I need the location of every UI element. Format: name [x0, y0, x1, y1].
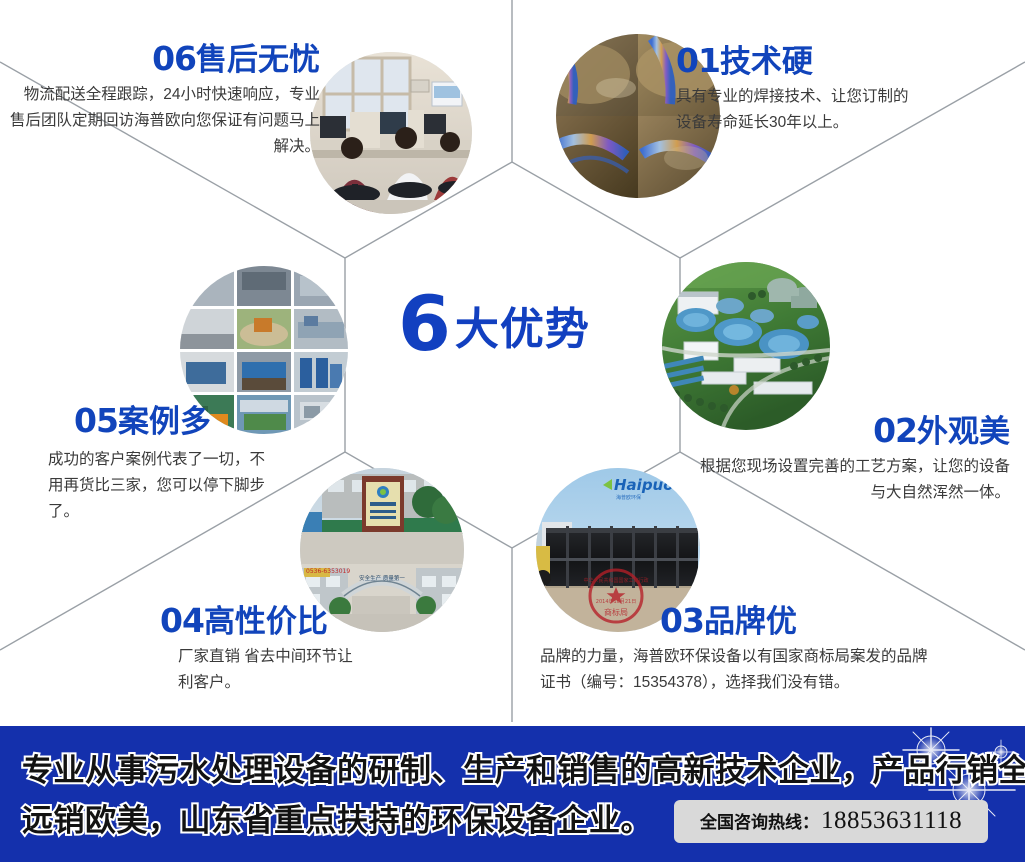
feature-brand-label: 品牌优 [704, 604, 797, 639]
svg-text:0536-6353019: 0536-6353019 [306, 568, 350, 575]
svg-text:Haipuou: Haipuou [614, 476, 685, 494]
feature-brand: 03品牌优 品牌的力量，海普欧环保设备以有国家商标局案发的品牌证书（编号：153… [540, 604, 955, 696]
infographic-canvas: Haipuou 海普欧环保 商标局 中华人民共和国国家工商行政 2014年10月… [0, 0, 1025, 862]
feature-value-label: 高性价比 [204, 604, 328, 639]
banner-line-2: 远销欧美，山东省重点扶持的环保设备企业。 [22, 796, 652, 846]
bottom-banner: 专业从事污水处理设备的研制、生产和销售的高新技术企业，产品行销全国并 远销欧美，… [0, 726, 1025, 862]
feature-technology-body: 具有专业的焊接技术、让您订制的设备寿命延长30年以上。 [676, 84, 911, 136]
feature-after-sales-title: 06售后无忧 [10, 42, 320, 77]
feature-value-body: 厂家直销 省去中间环节让利客户。 [160, 644, 368, 696]
feature-brand-number: 03 [660, 601, 704, 640]
svg-text:安全生产 质量第一: 安全生产 质量第一 [359, 574, 405, 582]
feature-cases-title: 05案例多 [74, 404, 344, 439]
feature-cases-number: 05 [74, 401, 118, 440]
feature-value-title: 04高性价比 [160, 604, 460, 639]
feature-technology: 01技术硬 具有专业的焊接技术、让您订制的设备寿命延长30年以上。 [676, 44, 944, 136]
banner-text-block: 专业从事污水处理设备的研制、生产和销售的高新技术企业，产品行销全国并 远销欧美，… [22, 746, 982, 846]
feature-cases: 05案例多 成功的客户案例代表了一切，不用再货比三家，您可以停下脚步了。 [74, 404, 344, 525]
center-number: 6 [398, 279, 449, 368]
center-headline: 6大优势 [398, 286, 648, 362]
hotline-pill[interactable]: 全国咨询热线：18853631118 [674, 800, 988, 843]
svg-text:海普欧环保: 海普欧环保 [616, 494, 641, 501]
feature-after-sales: 06售后无忧 物流配送全程跟踪，24小时快速响应，专业售后团队定期回访海普欧向您… [10, 42, 320, 160]
feature-appearance: 02外观美 根据您现场设置完善的工艺方案，让您的设备与大自然浑然一体。 [690, 414, 1010, 506]
office-staff-photo [310, 52, 472, 214]
banner-line-1: 专业从事污水处理设备的研制、生产和销售的高新技术企业，产品行销全国并 [22, 746, 982, 796]
feature-cases-body: 成功的客户案例代表了一切，不用再货比三家，您可以停下脚步了。 [48, 447, 278, 525]
center-label: 大优势 [455, 305, 590, 354]
feature-after-sales-body: 物流配送全程跟踪，24小时快速响应，专业售后团队定期回访海普欧向您保证有问题马上… [10, 82, 320, 160]
feature-after-sales-number: 06 [152, 39, 196, 78]
feature-value: 04高性价比 厂家直销 省去中间环节让利客户。 [160, 604, 460, 696]
feature-appearance-body: 根据您现场设置完善的工艺方案，让您的设备与大自然浑然一体。 [690, 454, 1010, 506]
banner-line-2-row: 远销欧美，山东省重点扶持的环保设备企业。 全国咨询热线：18853631118 [22, 796, 982, 846]
feature-technology-label: 技术硬 [720, 44, 813, 79]
svg-text:中华人民共和国国家工商行政: 中华人民共和国国家工商行政 [583, 577, 648, 584]
aerial-plant-photo [662, 262, 830, 430]
feature-appearance-title: 02外观美 [690, 414, 1010, 449]
feature-cases-label: 案例多 [118, 404, 211, 439]
feature-after-sales-label: 售后无忧 [196, 42, 320, 77]
feature-technology-number: 01 [676, 41, 720, 80]
feature-appearance-label: 外观美 [917, 414, 1010, 449]
hotline-label: 全国咨询热线： [700, 813, 819, 832]
feature-technology-title: 01技术硬 [676, 44, 944, 79]
feature-brand-body: 品牌的力量，海普欧环保设备以有国家商标局案发的品牌证书（编号：15354378）… [540, 644, 940, 696]
feature-value-number: 04 [160, 601, 204, 640]
feature-appearance-number: 02 [873, 411, 917, 450]
hotline-number: 18853631118 [821, 807, 962, 834]
feature-brand-title: 03品牌优 [540, 604, 955, 639]
